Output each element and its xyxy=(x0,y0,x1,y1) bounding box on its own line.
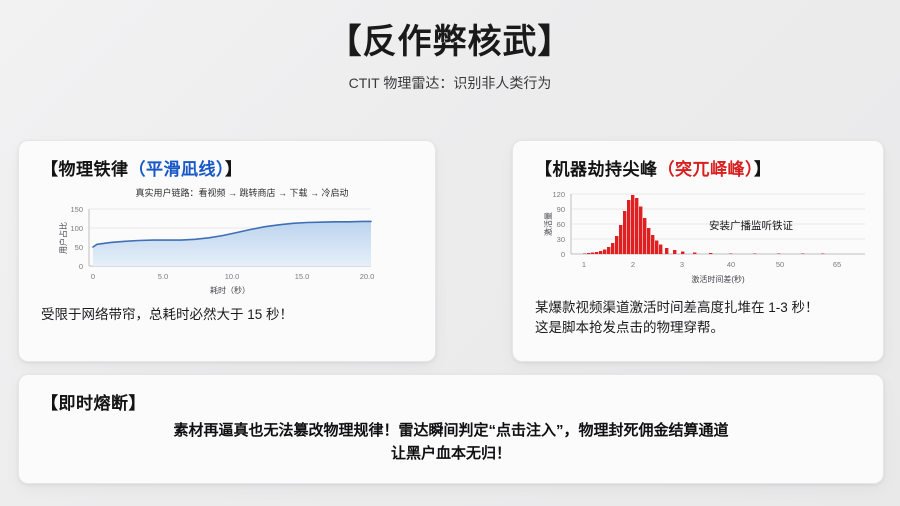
bar xyxy=(821,254,824,255)
left-chart: 150 100 50 0 0 5.0 10.0 15.0 20.0 耗时（秒） … xyxy=(19,201,435,299)
left-chart-xlabel: 耗时（秒） xyxy=(210,285,250,295)
page-title: 【反作弊核武】 xyxy=(0,24,900,61)
right-card-note-line1: 某爆款视频渠道激活时间差高度扎堆在 1-3 秒！ xyxy=(535,298,861,318)
right-ytick-1: 30 xyxy=(557,235,565,244)
bottom-card-line1: 素材再逼真也无法篡改物理规律！雷达瞬间判定“点击注入”，物理封死佣金结算通道 xyxy=(49,420,853,443)
bar xyxy=(631,195,634,254)
left-ytick-0: 0 xyxy=(79,262,83,271)
left-xtick-3: 15.0 xyxy=(295,272,310,281)
right-xtick-2: 3 xyxy=(680,260,684,269)
left-chart-svg: 150 100 50 0 0 5.0 10.0 15.0 20.0 耗时（秒） … xyxy=(19,201,437,299)
card-physics-law: 【物理铁律（平滑凪线）】 真实用户链路：看视频 → 跳转商店 → 下载 → 冷启… xyxy=(18,140,436,362)
right-xtick-4: 50 xyxy=(776,260,784,269)
right-chart-xlabel: 激活时间差(秒) xyxy=(691,274,745,284)
right-chart-svg: 安装广播监听铁证 120 90 60 30 0 1 2 3 40 50 65 激… xyxy=(513,182,885,290)
right-xtick-5: 65 xyxy=(833,260,841,269)
card-instant-block: 【即时熔断】 素材再逼真也无法篡改物理规律！雷达瞬间判定“点击注入”，物理封死佣… xyxy=(18,374,884,484)
right-chart-ylabel: 激活量 xyxy=(543,212,553,236)
left-xtick-2: 10.0 xyxy=(225,272,240,281)
bar xyxy=(599,251,602,254)
bar xyxy=(655,241,658,255)
bar xyxy=(615,236,618,254)
left-chart-xtick-labels: 0 5.0 10.0 15.0 20.0 xyxy=(91,272,374,281)
left-card-title-accent: （平滑凪线） xyxy=(129,160,226,179)
bottom-card-line2: 让黑户血本无归！ xyxy=(49,443,853,466)
bar xyxy=(665,248,668,254)
left-card-title-tail: 】 xyxy=(225,160,243,179)
left-ytick-2: 100 xyxy=(70,224,83,233)
right-chart: 安装广播监听铁证 120 90 60 30 0 1 2 3 40 50 65 激… xyxy=(513,182,883,290)
bar xyxy=(627,200,630,254)
bar xyxy=(681,252,684,255)
left-chart-caption: 真实用户链路：看视频 → 跳转商店 → 下载 → 冷启动 xyxy=(49,186,435,199)
bar xyxy=(583,254,586,255)
left-ytick-3: 150 xyxy=(70,205,83,214)
bar xyxy=(643,218,646,254)
bar xyxy=(611,243,614,254)
bar xyxy=(603,250,606,255)
bar xyxy=(709,253,712,254)
bar xyxy=(619,225,622,254)
card-bot-spike: 【机器劫持尖峰（突兀峄峰）】 xyxy=(512,140,884,362)
bar xyxy=(753,254,756,255)
right-card-title-accent: （突兀峄峰） xyxy=(658,160,755,179)
right-card-title-tail: 】 xyxy=(754,160,772,179)
right-ytick-0: 0 xyxy=(561,250,565,259)
left-card-note: 受限于网络带帘，总耗时必然大于 15 秒！ xyxy=(19,305,435,325)
slide-root: 【反作弊核武】 CTIT 物理雷达：识别非人类行为 【物理铁律（平滑凪线）】 真… xyxy=(0,0,900,506)
left-xtick-1: 5.0 xyxy=(158,272,168,281)
bar xyxy=(647,228,650,254)
right-xtick-0: 1 xyxy=(582,260,586,269)
bar xyxy=(595,252,598,254)
bar xyxy=(639,207,642,255)
right-card-title-main: 【机器劫持尖峰 xyxy=(535,160,658,179)
right-ytick-4: 120 xyxy=(552,190,565,199)
right-xtick-3: 40 xyxy=(727,260,735,269)
bar xyxy=(651,235,654,254)
bar xyxy=(673,250,676,254)
bar xyxy=(587,253,590,254)
left-ytick-1: 50 xyxy=(75,243,83,252)
right-chart-ytick-labels: 120 90 60 30 0 xyxy=(552,190,565,259)
right-chart-xtick-labels: 1 2 3 40 50 65 xyxy=(582,260,841,269)
right-ytick-3: 90 xyxy=(557,205,565,214)
bar xyxy=(623,211,626,254)
page-subtitle: CTIT 物理雷达：识别非人类行为 xyxy=(0,73,900,93)
left-chart-ylabel: 用户占比 xyxy=(58,222,68,254)
bar xyxy=(591,253,594,255)
bottom-card-body: 素材再逼真也无法篡改物理规律！雷达瞬间判定“点击注入”，物理封死佣金结算通道 让… xyxy=(19,414,883,465)
bar xyxy=(659,245,662,255)
bar xyxy=(607,247,610,254)
slide-header: 【反作弊核武】 CTIT 物理雷达：识别非人类行为 xyxy=(0,0,900,93)
left-xtick-4: 20.0 xyxy=(360,272,375,281)
right-xtick-1: 2 xyxy=(631,260,635,269)
bar xyxy=(635,198,638,254)
bottom-card-title: 【即时熔断】 xyxy=(19,375,883,414)
right-card-title: 【机器劫持尖峰（突兀峄峰）】 xyxy=(513,141,883,180)
right-card-note-line2: 这是脚本抢发点击的物理穿帮。 xyxy=(535,318,861,338)
left-xtick-0: 0 xyxy=(91,272,95,281)
bar xyxy=(777,254,780,255)
bar xyxy=(693,253,696,255)
bar xyxy=(801,254,804,255)
right-chart-annotation: 安装广播监听铁证 xyxy=(709,219,793,232)
left-card-title: 【物理铁律（平滑凪线）】 xyxy=(19,141,435,180)
bar xyxy=(729,254,732,255)
left-chart-ytick-labels: 150 100 50 0 xyxy=(70,205,83,271)
right-card-note: 某爆款视频渠道激活时间差高度扎堆在 1-3 秒！ 这是脚本抢发点击的物理穿帮。 xyxy=(513,298,883,337)
left-card-title-main: 【物理铁律 xyxy=(41,160,129,179)
right-ytick-2: 60 xyxy=(557,220,565,229)
